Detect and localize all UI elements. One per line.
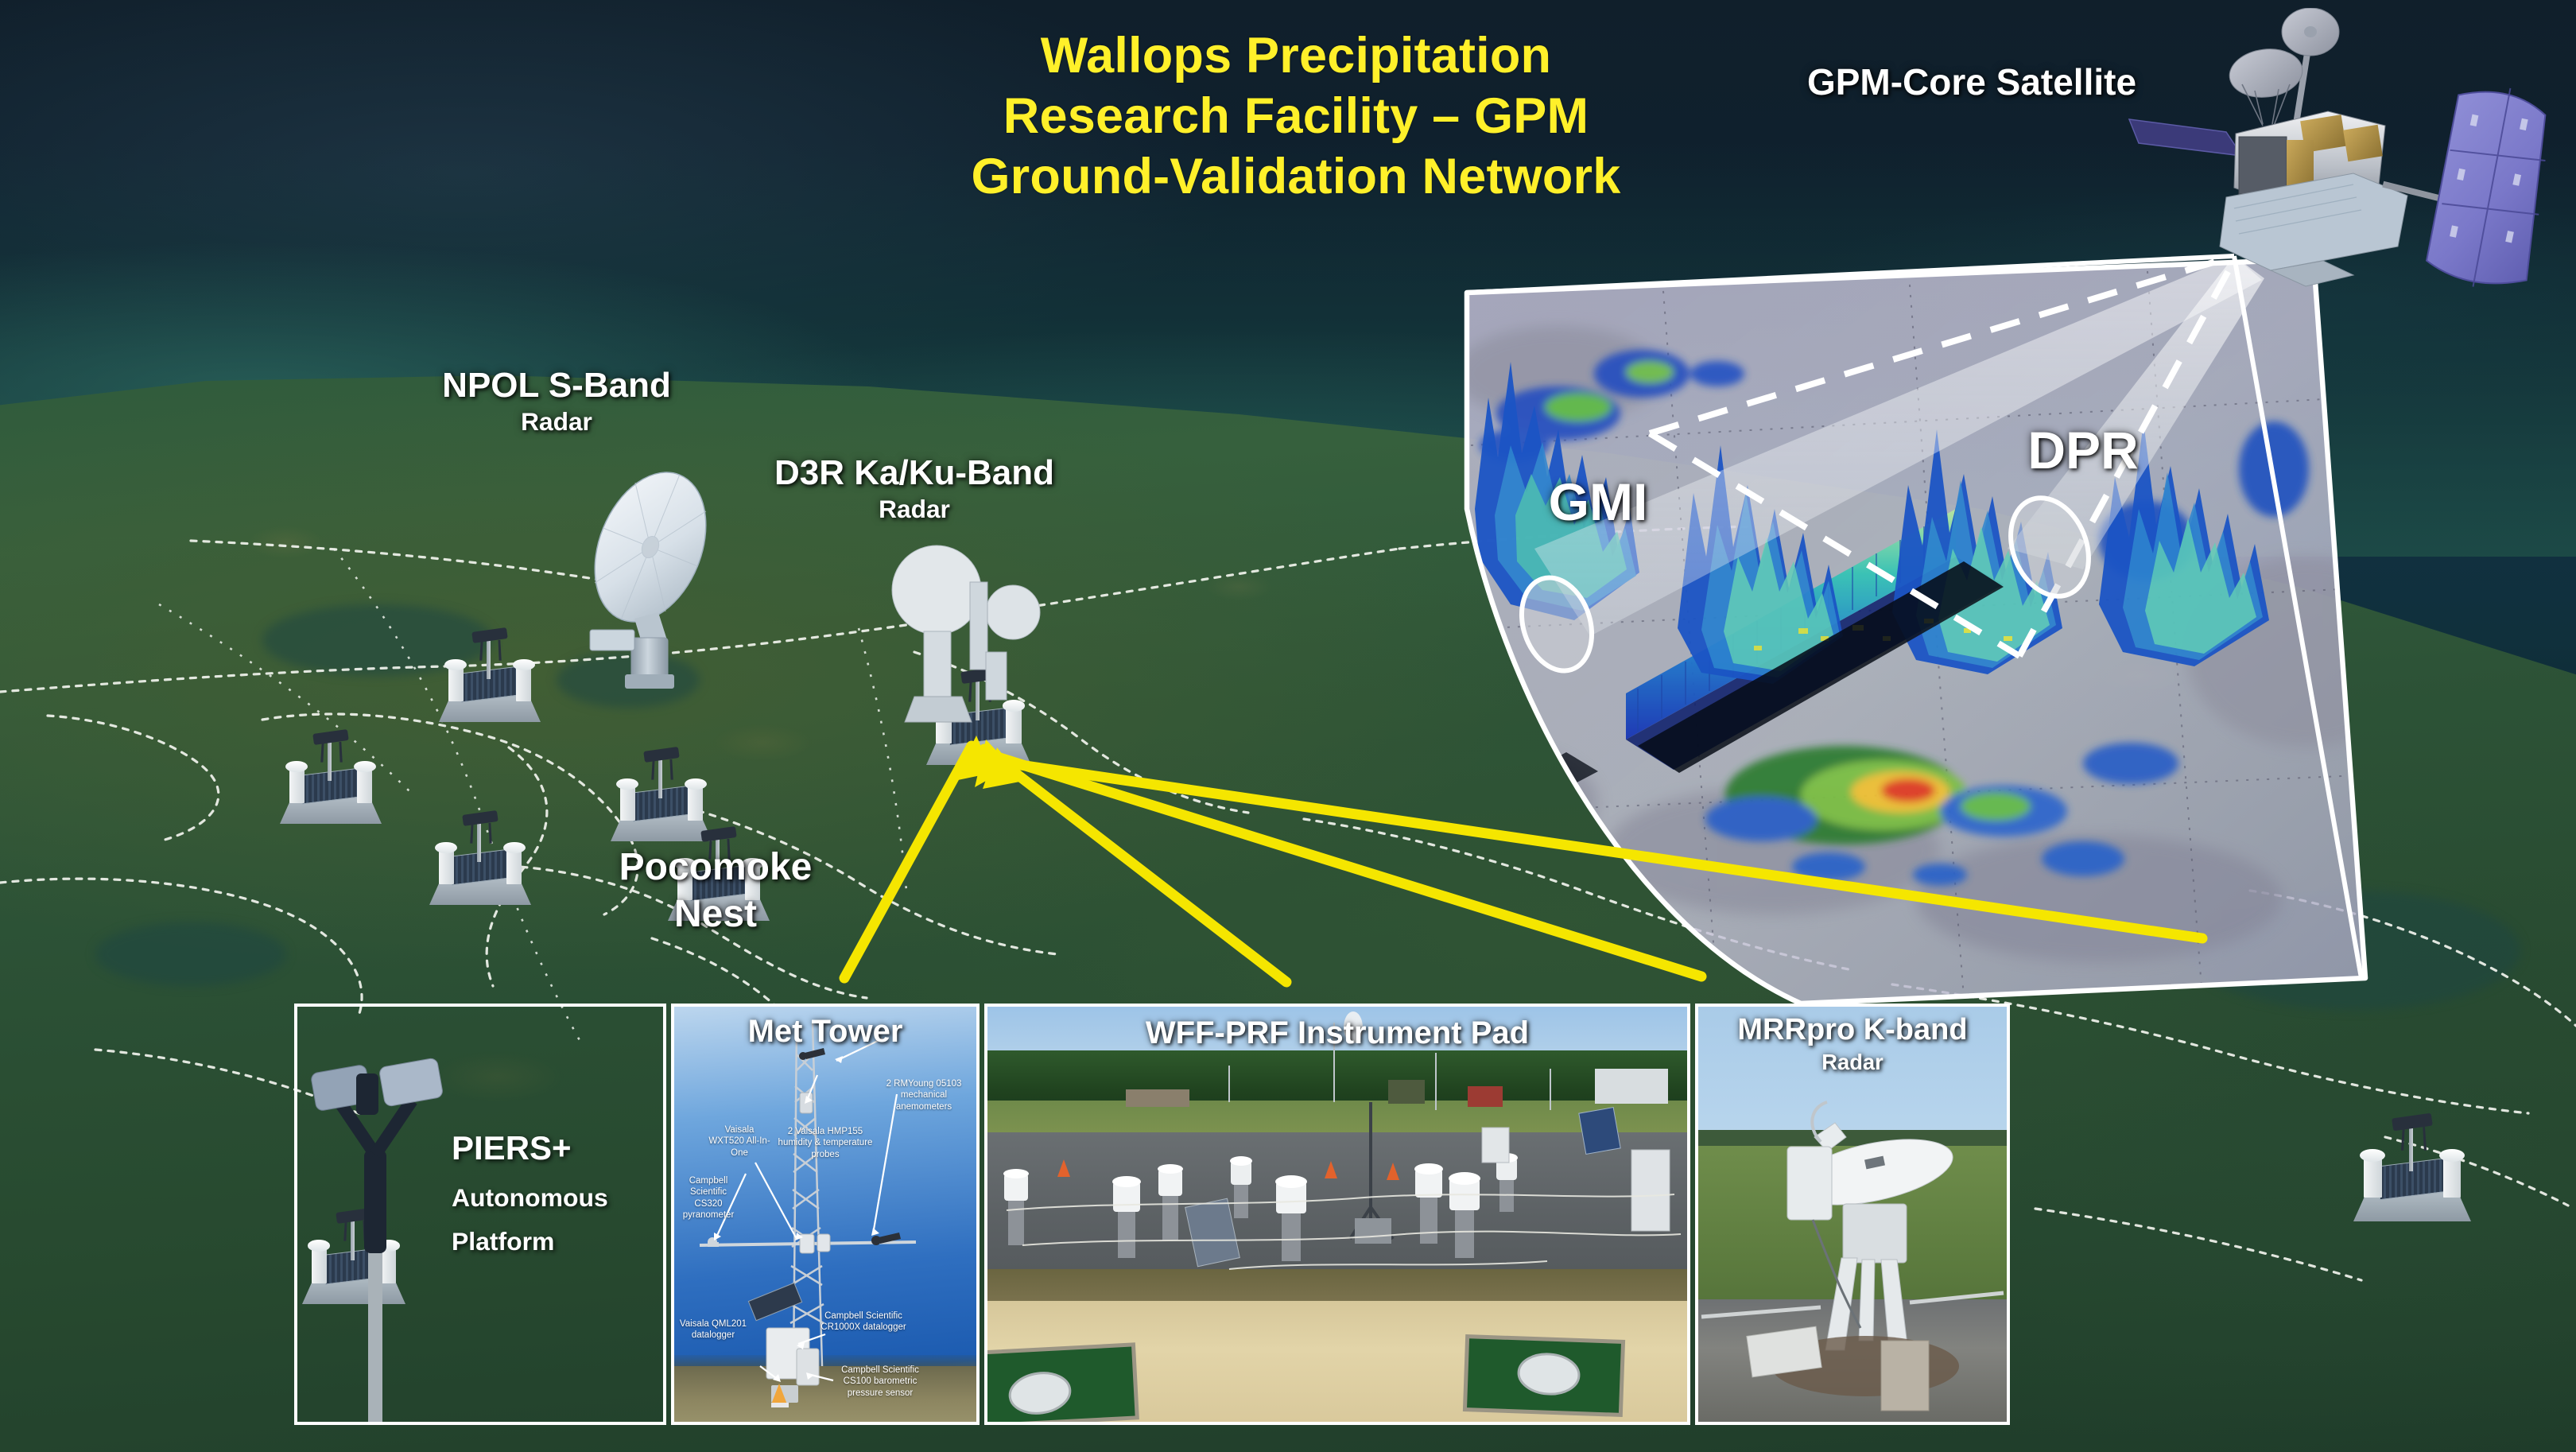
caption-main: WFF-PRF Instrument Pad — [1146, 1015, 1529, 1050]
label-text: DPR — [2027, 421, 2138, 479]
caption-main: MRRpro K-band — [1737, 1013, 1967, 1046]
label-text: Pocomoke — [619, 846, 813, 888]
caption-sub-2: Platform — [452, 1225, 650, 1259]
label-text-2: Nest — [674, 893, 757, 935]
annotation-cs100: Campbell Scientific CS100 barometric pre… — [828, 1365, 932, 1399]
panel-mrrpro-radar[interactable]: MRRpro K-band Radar — [1695, 1004, 2010, 1425]
annotation-cr1000x: Campbell Scientific CR1000X datalogger — [816, 1310, 911, 1334]
photo-panel-strip: PIERS+ Autonomous Platform — [294, 1004, 2010, 1425]
panel-met-tower[interactable]: Met Tower 2 RMYoung 05103 mechanical ane… — [671, 1004, 980, 1425]
label-text: NPOL S-Band — [442, 366, 671, 405]
title-line-2: Research Facility – GPM — [938, 86, 1654, 146]
infographic-canvas: Wallops Precipitation Research Facility … — [0, 0, 2576, 1452]
label-gpm-core-satellite: GPM-Core Satellite — [1749, 62, 2194, 103]
title-line-1: Wallops Precipitation — [938, 25, 1654, 86]
caption-sub-1: Autonomous — [452, 1181, 650, 1215]
panel-caption-wff-prf: WFF-PRF Instrument Pad — [987, 1015, 1687, 1051]
label-sub-text: Radar — [731, 495, 1097, 523]
panel-caption-met-tower: Met Tower — [674, 1013, 976, 1050]
annotation-qml201: Vaisala QML201 datalogger — [677, 1318, 749, 1341]
caption-main: PIERS+ — [452, 1129, 572, 1167]
annotation-cs320: Campbell Scientific CS320 pyranometer — [679, 1175, 738, 1221]
page-title: Wallops Precipitation Research Facility … — [938, 25, 1654, 208]
label-gmi-instrument: GMI — [1511, 473, 1686, 532]
annotation-wxt520: Vaisala WXT520 All-In-One — [708, 1124, 771, 1159]
wff-instruments-illustration — [987, 1007, 1687, 1422]
label-text: D3R Ka/Ku-Band — [774, 453, 1054, 492]
label-sub-text: Radar — [390, 408, 724, 436]
panel-caption-mrrpro: MRRpro K-band Radar — [1698, 1013, 2007, 1074]
title-line-3: Ground-Validation Network — [938, 146, 1654, 207]
label-dpr-instrument: DPR — [1988, 421, 2178, 480]
gpm-core-satellite — [2115, 8, 2576, 342]
label-pocomoke-nest: Pocomoke Nest — [588, 844, 843, 938]
label-text: GPM-Core Satellite — [1807, 61, 2136, 103]
caption-sub-1: Radar — [1698, 1050, 2007, 1074]
label-d3r-radar: D3R Ka/Ku-Band Radar — [731, 453, 1097, 524]
label-npol-radar: NPOL S-Band Radar — [390, 366, 724, 437]
panel-wff-prf-instrument-pad[interactable]: WFF-PRF Instrument Pad — [984, 1004, 1690, 1425]
annotation-anemometers: 2 RMYoung 05103 mechanical anemometers — [876, 1078, 972, 1112]
panel-caption-piers: PIERS+ Autonomous Platform — [452, 1126, 650, 1259]
panel-piers-plus[interactable]: PIERS+ Autonomous Platform — [294, 1004, 666, 1425]
label-text: GMI — [1549, 472, 1648, 531]
annotation-hmp155: 2 Vaisala HMP155 humidity & temperature … — [778, 1126, 873, 1160]
caption-main: Met Tower — [748, 1014, 903, 1049]
